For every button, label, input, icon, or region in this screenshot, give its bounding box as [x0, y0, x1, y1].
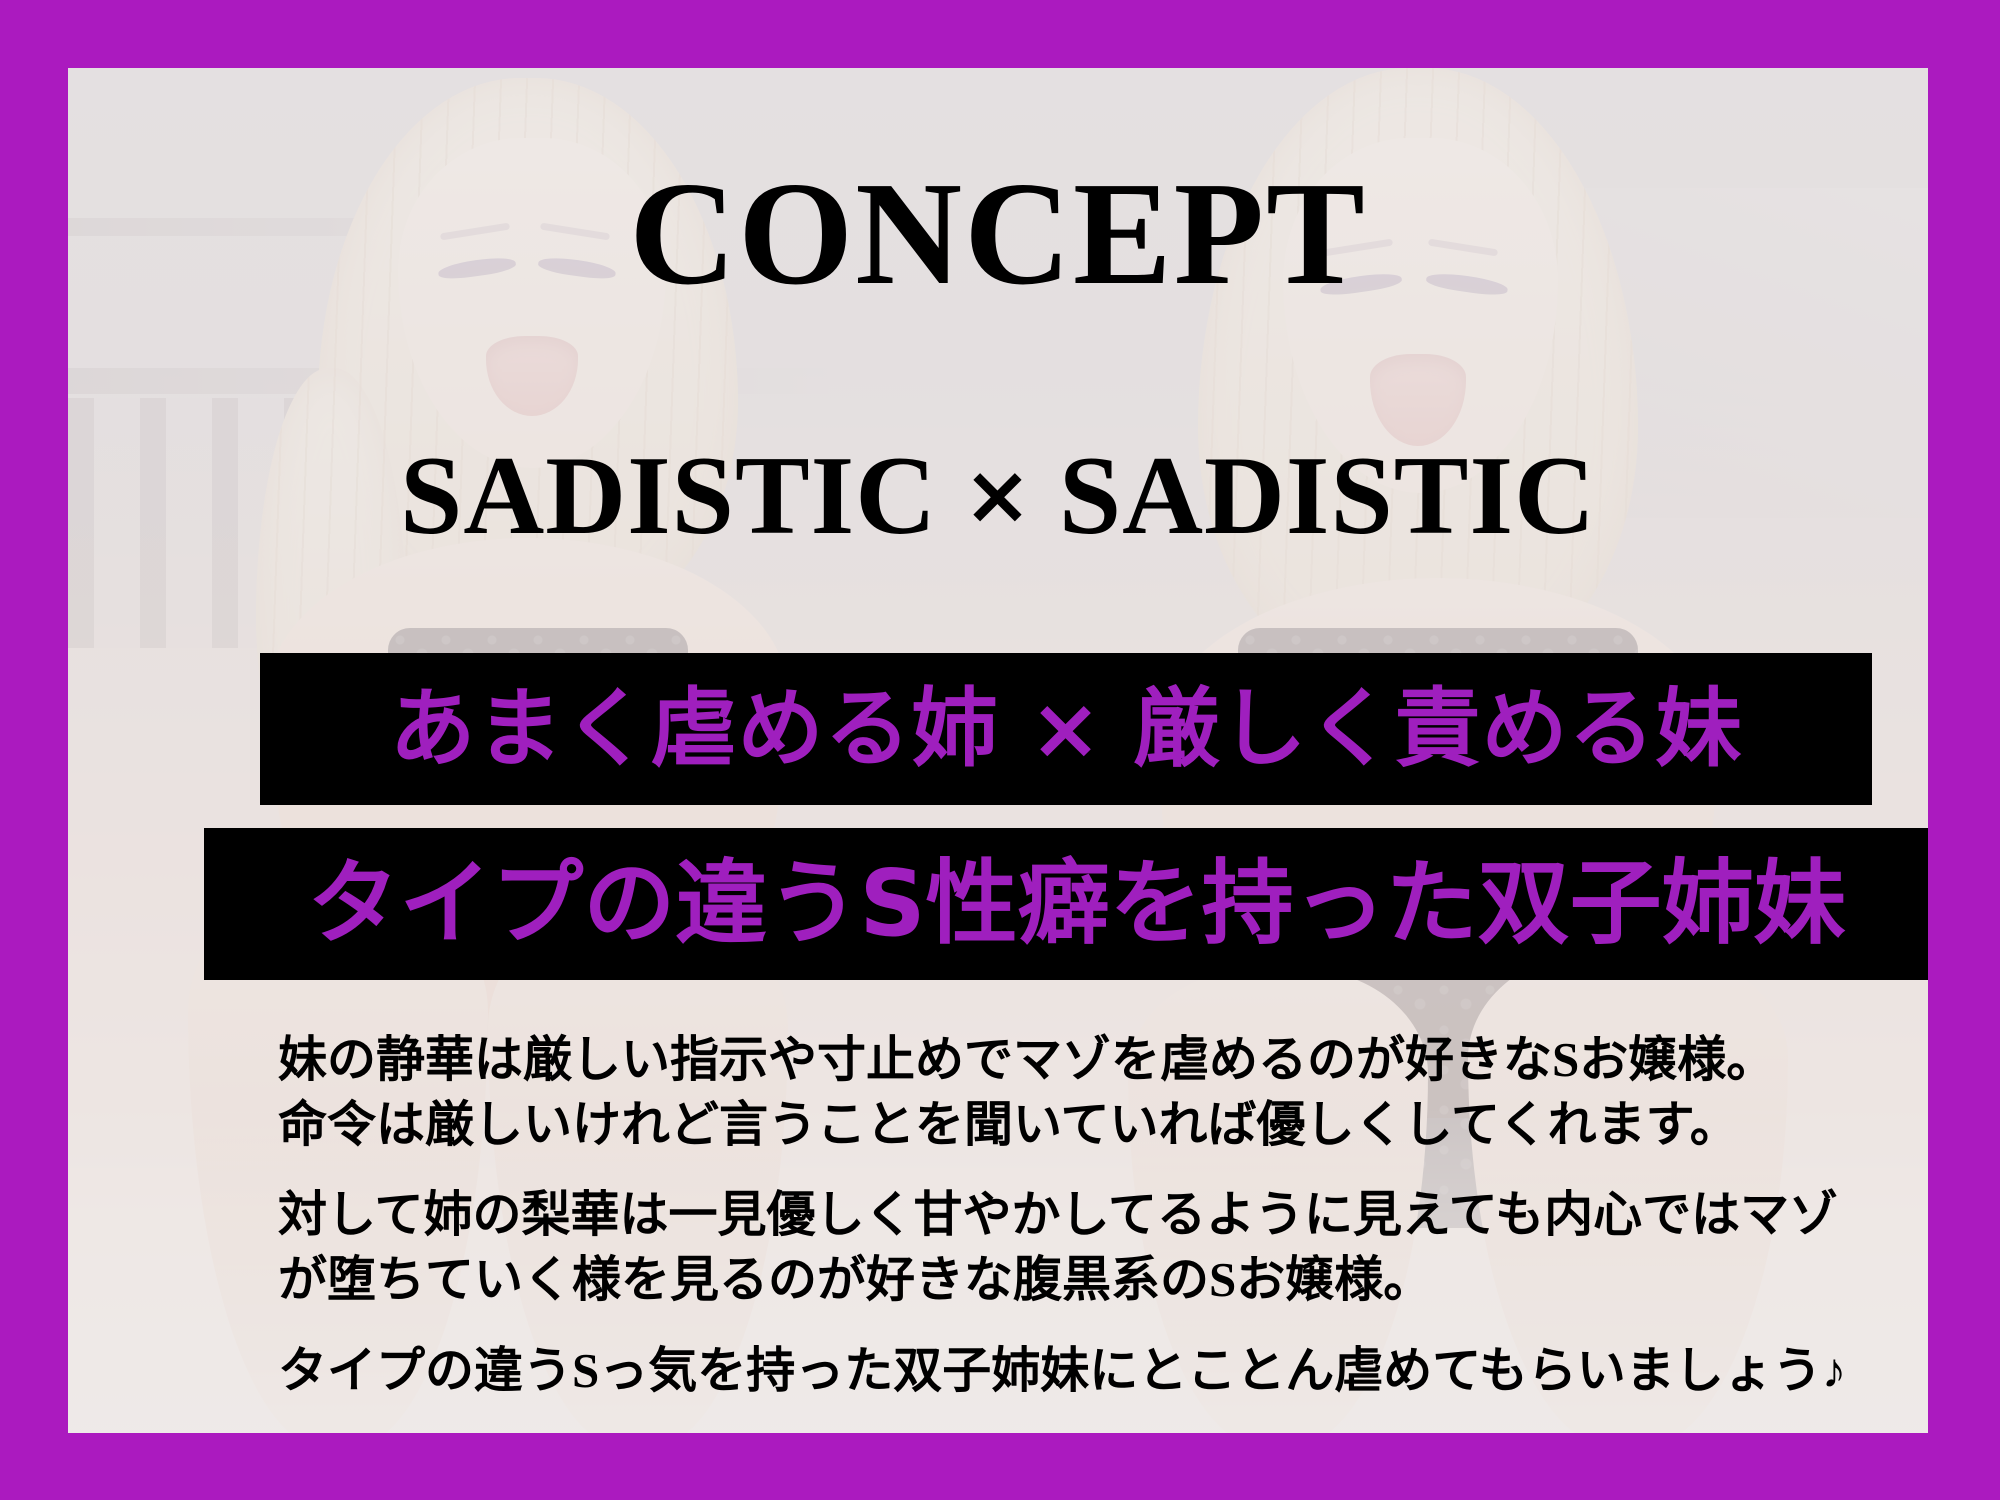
concept-banner: CONCEPT SADISTIC×SADISTIC あまく虐める姉 × 厳しく責… — [0, 0, 2000, 1500]
page-title: CONCEPT — [68, 160, 1928, 308]
description-paragraph: 対して姉の梨華は一見優しく甘やかしてるように見えても内心ではマゾ が堕ちていく様… — [278, 1183, 1928, 1312]
subtitle-sadistic: SADISTIC×SADISTIC — [68, 440, 1928, 552]
banner-content: CONCEPT SADISTIC×SADISTIC あまく虐める姉 × 厳しく責… — [68, 68, 1928, 1433]
description-paragraph: 妹の静華は厳しい指示や寸止めでマゾを虐めるのが好きなSお嬢様。 命令は厳しいけれ… — [278, 1028, 1928, 1157]
subtitle-right-word: SADISTIC — [1059, 434, 1596, 558]
description-paragraph: タイプの違うSっ気を持った双子姉妹にとことん虐めてもらいましょう♪ — [278, 1339, 1928, 1404]
highlight-bar-sisters: あまく虐める姉 × 厳しく責める妹 — [260, 653, 1872, 805]
highlight-bar-twins-text: タイプの違うS性癖を持った双子姉妹 — [307, 858, 1845, 950]
description-block: 妹の静華は厳しい指示や寸止めでマゾを虐めるのが好きなSお嬢様。 命令は厳しいけれ… — [278, 1028, 1928, 1403]
content-panel: CONCEPT SADISTIC×SADISTIC あまく虐める姉 × 厳しく責… — [68, 68, 1928, 1433]
highlight-bar-sisters-text: あまく虐める姉 × 厳しく責める妹 — [390, 686, 1743, 772]
subtitle-left-word: SADISTIC — [400, 434, 937, 558]
multiply-icon: × — [937, 448, 1059, 543]
highlight-bar-twins: タイプの違うS性癖を持った双子姉妹 — [204, 828, 1928, 980]
